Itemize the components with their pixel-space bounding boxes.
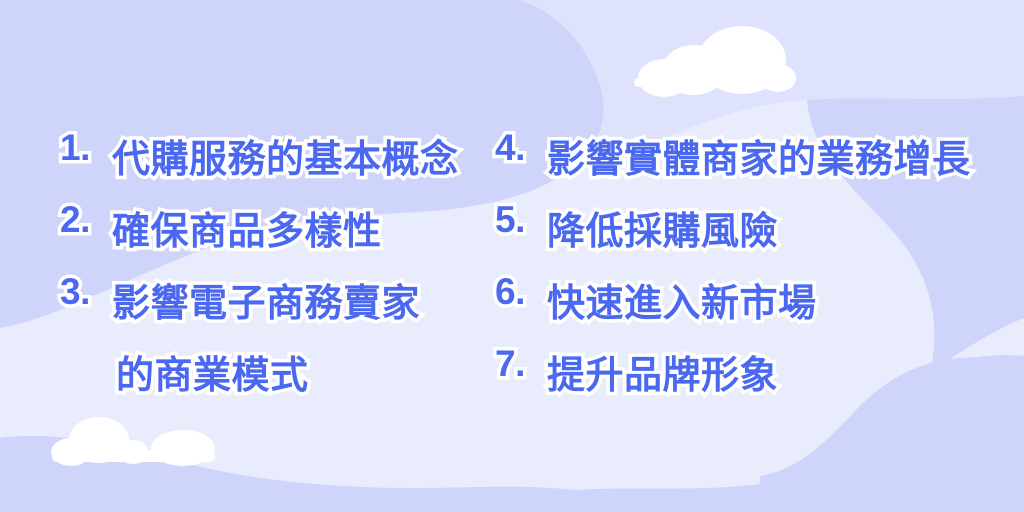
list-item-text-line-2: 的商業模式 bbox=[112, 340, 480, 412]
list-item-number: 5. bbox=[495, 196, 547, 244]
list-item-number: 6. bbox=[495, 268, 547, 316]
list-item-text: 確保商品多樣性 bbox=[112, 196, 480, 268]
list-item: 5. 降低採購風險 bbox=[495, 196, 1005, 268]
list-item-number: 1. bbox=[60, 124, 112, 172]
list-column-left: 1. 代購服務的基本概念 2. 確保商品多樣性 3. 影響電子商務賣家 的商業模… bbox=[60, 124, 480, 412]
list-item-number: 3. bbox=[60, 268, 112, 316]
list-item-number: 7. bbox=[495, 340, 547, 388]
list-column-right: 4. 影響實體商家的業務增長 5. 降低採購風險 6. 快速進入新市場 7. 提… bbox=[495, 124, 1005, 412]
list-item-text: 影響電子商務賣家 的商業模式 bbox=[112, 268, 480, 412]
slide-canvas: 1. 代購服務的基本概念 2. 確保商品多樣性 3. 影響電子商務賣家 的商業模… bbox=[0, 0, 1024, 512]
list-item-text-line-1: 影響電子商務賣家 bbox=[112, 283, 420, 325]
slide-content: 1. 代購服務的基本概念 2. 確保商品多樣性 3. 影響電子商務賣家 的商業模… bbox=[0, 0, 1024, 512]
list-item-text: 快速進入新市場 bbox=[547, 268, 1005, 340]
list-item: 1. 代購服務的基本概念 bbox=[60, 124, 480, 196]
list-item: 3. 影響電子商務賣家 的商業模式 bbox=[60, 268, 480, 412]
list-item-number: 2. bbox=[60, 196, 112, 244]
list-item-number: 4. bbox=[495, 124, 547, 172]
list-item: 4. 影響實體商家的業務增長 bbox=[495, 124, 1005, 196]
list-item: 7. 提升品牌形象 bbox=[495, 340, 1005, 412]
list-item: 6. 快速進入新市場 bbox=[495, 268, 1005, 340]
list-item-text: 代購服務的基本概念 bbox=[112, 124, 480, 196]
list-item-text: 影響實體商家的業務增長 bbox=[547, 124, 1005, 196]
list-item-text: 提升品牌形象 bbox=[547, 340, 1005, 412]
list-item: 2. 確保商品多樣性 bbox=[60, 196, 480, 268]
list-item-text: 降低採購風險 bbox=[547, 196, 1005, 268]
